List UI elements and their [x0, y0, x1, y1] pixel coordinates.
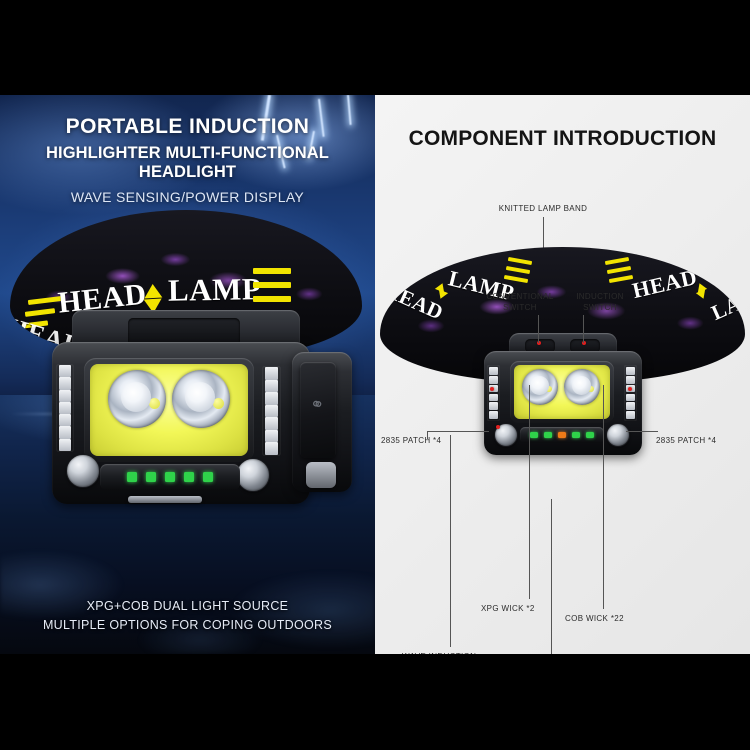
- section-title: COMPONENT INTRODUCTION: [375, 127, 750, 151]
- battery-led: [544, 432, 552, 438]
- callout-induction-switch-line2: SWITCH: [545, 302, 655, 313]
- headlamp-product-hero: HEAD LAMP HEAD: [6, 210, 369, 555]
- band-stripe: [508, 257, 532, 265]
- callout-patch-right: 2835 PATCH *4: [656, 435, 716, 446]
- leader-line-wave-induction: [450, 435, 451, 647]
- battery-display-bar: [100, 464, 240, 490]
- battery-led: [165, 472, 175, 482]
- leader-line-battery-display: [551, 499, 552, 654]
- mount-bracket: [128, 496, 202, 503]
- side-button-right[interactable]: [236, 458, 270, 492]
- battery-led: [184, 472, 194, 482]
- leader-line-xpg-wick: [529, 385, 530, 599]
- battery-led: [572, 432, 580, 438]
- leader-line-cob-wick: [603, 385, 604, 609]
- xpg-lens-left: [522, 369, 558, 405]
- callout-induction-switch-line1: INDUCTION: [545, 291, 655, 302]
- leader-line-conventional-switch: [538, 315, 539, 343]
- hero-footer-line-1: XPG+COB DUAL LIGHT SOURCE: [0, 599, 375, 613]
- battery-led-group: [530, 432, 594, 438]
- band-stripe: [25, 308, 55, 317]
- leader-line-induction-switch: [583, 315, 584, 343]
- marker-dot-patch-right: [628, 387, 632, 391]
- patch-2835-left: [56, 364, 74, 452]
- patch-2835-right: [624, 365, 637, 421]
- xpg-lens-right: [172, 370, 230, 428]
- side-button-left[interactable]: [66, 454, 100, 488]
- band-stripe: [253, 282, 291, 288]
- band-triangle-icon: [144, 284, 163, 299]
- band-text-lamp-right: LAMP: [708, 277, 745, 326]
- usb-icon: ⚭: [309, 395, 325, 414]
- callout-xpg-wick: XPG WICK *2: [481, 603, 535, 614]
- xpg-emitter-dot: [213, 398, 224, 409]
- hero-title-group: PORTABLE INDUCTION HIGHLIGHTER MULTI-FUN…: [0, 115, 375, 205]
- hero-tagline: WAVE SENSING/POWER DISPLAY: [0, 189, 375, 205]
- callout-wave-induction: WAVE INDUCTION: [402, 651, 476, 654]
- side-button-right[interactable]: [606, 423, 630, 447]
- patch-2835-right: [262, 366, 281, 456]
- band-stripe: [253, 296, 291, 302]
- component-diagram-panel: COMPONENT INTRODUCTION KNITTED LAMP BAND…: [375, 95, 750, 654]
- hero-subhead: HIGHLIGHTER MULTI-FUNCTIONAL HEADLIGHT: [0, 144, 375, 182]
- product-image-canvas: PORTABLE INDUCTION HIGHLIGHTER MULTI-FUN…: [0, 0, 750, 750]
- callout-patch-left: 2835 PATCH *4: [381, 435, 441, 446]
- battery-led: [558, 432, 566, 438]
- band-stripe: [607, 266, 631, 274]
- leader-line-patch-left: [427, 431, 489, 432]
- mount-bracket: [306, 462, 336, 488]
- patch-2835-left: [487, 365, 500, 421]
- band-text-lamp: LAMP: [168, 271, 262, 309]
- xpg-emitter-dot: [588, 386, 594, 392]
- xpg-emitter-dot: [546, 386, 552, 392]
- battery-led: [530, 432, 538, 438]
- battery-led: [203, 472, 213, 482]
- battery-led: [146, 472, 156, 482]
- hero-panel: PORTABLE INDUCTION HIGHLIGHTER MULTI-FUN…: [0, 95, 375, 654]
- marker-dot-patch-left: [490, 387, 494, 391]
- hero-footer-group: XPG+COB DUAL LIGHT SOURCE MULTIPLE OPTIO…: [0, 599, 375, 632]
- band-stripe: [506, 266, 530, 274]
- band-stripe: [253, 268, 291, 274]
- battery-led: [127, 472, 137, 482]
- xpg-emitter-dot: [149, 398, 160, 409]
- xpg-lens-left: [108, 370, 166, 428]
- leader-line-patch-right: [626, 431, 658, 432]
- usb-port-cover[interactable]: ⚭: [300, 362, 336, 458]
- leader-line-patch-left-v: [427, 431, 428, 439]
- band-triangle-icon: [696, 289, 708, 300]
- hero-headline: PORTABLE INDUCTION: [0, 115, 375, 139]
- callout-induction-switch: INDUCTION SWITCH: [545, 291, 655, 313]
- hero-footer-line-2: MULTIPLE OPTIONS FOR COPING OUTDOORS: [0, 618, 375, 632]
- marker-dot-wave-induction: [496, 425, 500, 429]
- band-stripe: [605, 257, 629, 265]
- xpg-lens-right: [564, 369, 600, 405]
- lamp-housing: [52, 342, 310, 504]
- callout-cob-wick: COB WICK *22: [565, 613, 624, 624]
- lamp-housing: [484, 351, 642, 455]
- battery-led: [586, 432, 594, 438]
- battery-led-group: [127, 472, 213, 482]
- battery-display-bar: [520, 427, 604, 443]
- content-band: PORTABLE INDUCTION HIGHLIGHTER MULTI-FUN…: [0, 95, 750, 654]
